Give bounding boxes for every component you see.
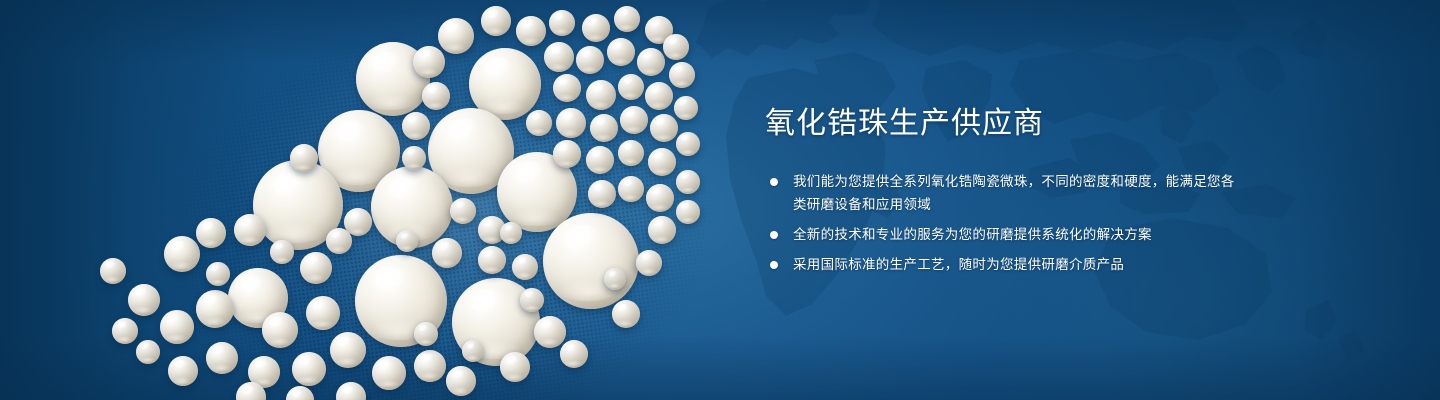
zirconia-beads-image (0, 0, 760, 400)
list-item: 采用国际标准的生产工艺，随时为您提供研磨介质产品 (767, 253, 1237, 276)
list-item-label: 我们能为您提供全系列氧化锆陶瓷微珠，不同的密度和硬度，能满足您各类研磨设备和应用… (793, 170, 1237, 216)
bullet-dot-icon (770, 178, 778, 186)
page-title: 氧化锆珠生产供应商 (765, 109, 1044, 139)
bullet-dot-icon (770, 261, 778, 269)
banner-content: 氧化锆珠生产供应商 我们能为您提供全系列氧化锆陶瓷微珠，不同的密度和硬度，能满足… (765, 0, 1365, 400)
bullet-dot-icon (770, 231, 778, 239)
list-item: 我们能为您提供全系列氧化锆陶瓷微珠，不同的密度和硬度，能满足您各类研磨设备和应用… (767, 170, 1237, 216)
feature-list: 我们能为您提供全系列氧化锆陶瓷微珠，不同的密度和硬度，能满足您各类研磨设备和应用… (767, 170, 1237, 276)
list-item: 全新的技术和专业的服务为您的研磨提供系统化的解决方案 (767, 223, 1237, 246)
list-item-label: 采用国际标准的生产工艺，随时为您提供研磨介质产品 (793, 253, 1237, 276)
hero-banner: 氧化锆珠生产供应商 我们能为您提供全系列氧化锆陶瓷微珠，不同的密度和硬度，能满足… (0, 0, 1440, 400)
list-item-label: 全新的技术和专业的服务为您的研磨提供系统化的解决方案 (793, 223, 1237, 246)
